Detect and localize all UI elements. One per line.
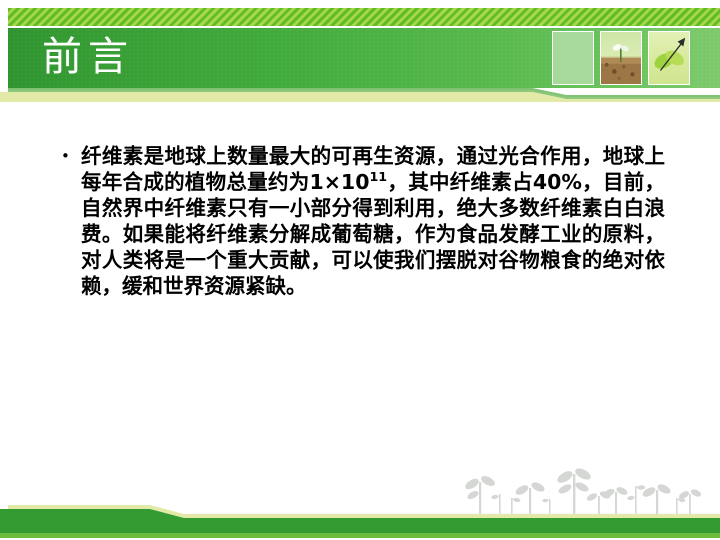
diagonal-stripe-pattern — [8, 8, 720, 26]
seedling-in-soil-thumbnail — [600, 31, 642, 85]
bullet-marker: • — [55, 143, 81, 169]
slide-body: • 纤维素是地球上数量最大的可再生资源，通过光合作用，地球上每年合成的植物总量约… — [55, 143, 665, 299]
green-leaves-thumbnail — [648, 31, 690, 85]
body-paragraph-exponent: 11 — [369, 169, 387, 184]
slide-root: 前言 — [0, 0, 720, 540]
header-thumbnail-strip — [552, 31, 690, 85]
header-bottom-band — [0, 88, 720, 102]
body-paragraph: 纤维素是地球上数量最大的可再生资源，通过光合作用，地球上每年合成的植物总量约为1… — [81, 143, 665, 299]
footer-bar — [0, 505, 720, 540]
blank-green-thumbnail — [552, 31, 594, 85]
page-title: 前言 — [42, 26, 134, 88]
slide-header: 前言 — [0, 0, 720, 102]
bullet-list-item: • 纤维素是地球上数量最大的可再生资源，通过光合作用，地球上每年合成的植物总量约… — [55, 143, 665, 299]
